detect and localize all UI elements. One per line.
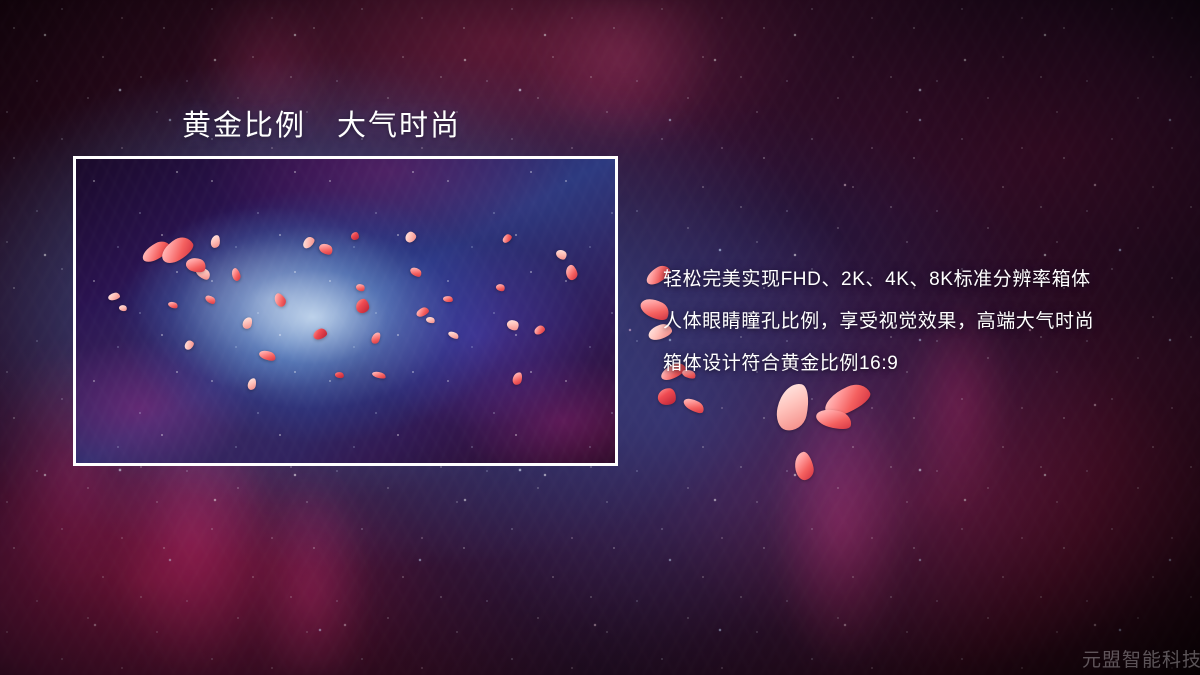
preview-starfield (76, 159, 615, 463)
petal (814, 405, 854, 432)
body-text-block: 轻松完美实现FHD、2K、4K、8K标准分辨率箱体 人体眼睛瞳孔比例，享受视觉效… (663, 259, 1183, 385)
body-line-2: 人体眼睛瞳孔比例，享受视觉效果，高端大气时尚 (663, 301, 1183, 343)
petal (682, 395, 707, 416)
preview-image-frame (73, 156, 618, 466)
petal (820, 379, 874, 420)
petal (657, 387, 677, 406)
petal (792, 450, 815, 481)
watermark: 元盟智能科技 (1082, 645, 1200, 672)
body-line-3: 箱体设计符合黄金比例16:9 (663, 343, 1183, 385)
preview-image (76, 159, 615, 463)
petal (773, 380, 812, 433)
slide-title: 黄金比例 大气时尚 (182, 102, 461, 144)
presentation-slide: 黄金比例 大气时尚 轻松完美实现FHD、2K、4K、8K标准分辨率箱体 人体眼睛… (0, 0, 1200, 675)
body-line-1: 轻松完美实现FHD、2K、4K、8K标准分辨率箱体 (663, 259, 1183, 301)
